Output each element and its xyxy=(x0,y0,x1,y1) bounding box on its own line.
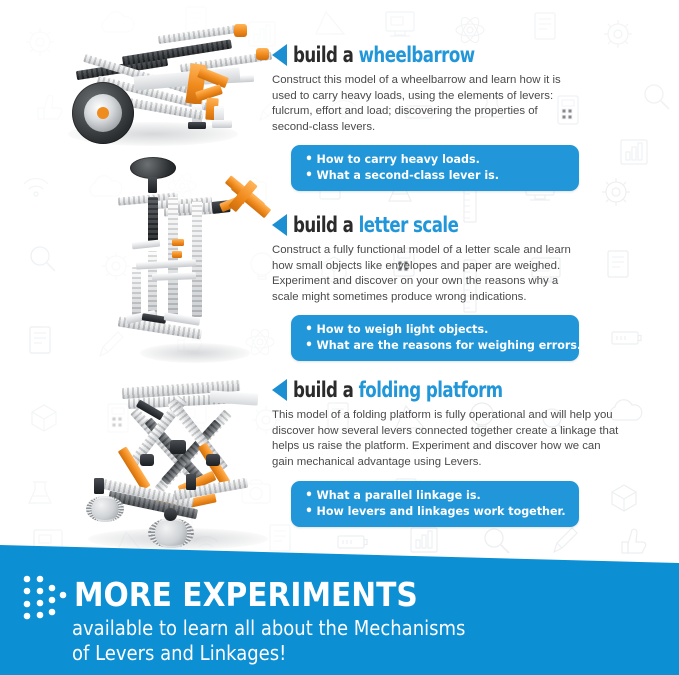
folding-platform-description: This model of a folding platform is full… xyxy=(272,408,624,470)
folding-platform-model-image xyxy=(78,378,278,550)
banner-title: MORE EXPERIMENTS xyxy=(74,578,418,612)
left-triangle-icon xyxy=(272,379,287,401)
letter-scale-callout-box: How to weigh light objects. What are the… xyxy=(291,315,579,361)
banner-subtitle-line-2: of Levers and Linkages! xyxy=(72,641,465,666)
chevron-dots-icon xyxy=(22,573,74,623)
letter-scale-description: Construct a fully functional model of a … xyxy=(272,243,582,305)
banner-subtitle-line-1: available to learn all about the Mechani… xyxy=(72,616,465,641)
left-triangle-icon xyxy=(272,214,287,236)
heading-prefix: build a xyxy=(293,213,359,237)
letter-scale-heading: build a letter scale xyxy=(272,214,582,236)
product-info-page: build a wheelbarrow Construct this model… xyxy=(0,0,679,675)
folding-platform-callout-box: What a parallel linkage is. How levers a… xyxy=(291,481,579,527)
folding-platform-text-column: build a folding platform This model of a… xyxy=(272,379,624,470)
more-experiments-banner: MORE EXPERIMENTS available to learn all … xyxy=(0,540,679,675)
letter-scale-text-column: build a letter scale Construct a fully f… xyxy=(272,214,582,305)
callout-bullet: How levers and linkages work together. xyxy=(305,504,555,520)
heading-prefix: build a xyxy=(293,378,359,402)
banner-subtitle: available to learn all about the Mechani… xyxy=(72,616,465,666)
callout-bullet: What a parallel linkage is. xyxy=(305,488,555,504)
heading-model-name: letter scale xyxy=(359,213,459,237)
callout-bullet: What are the reasons for weighing errors… xyxy=(305,338,555,354)
callout-bullet: How to weigh light objects. xyxy=(305,322,555,338)
folding-platform-heading: build a folding platform xyxy=(272,379,624,401)
heading-model-name: folding platform xyxy=(359,378,503,402)
section-folding-platform: build a folding platform This model of a… xyxy=(0,0,679,200)
